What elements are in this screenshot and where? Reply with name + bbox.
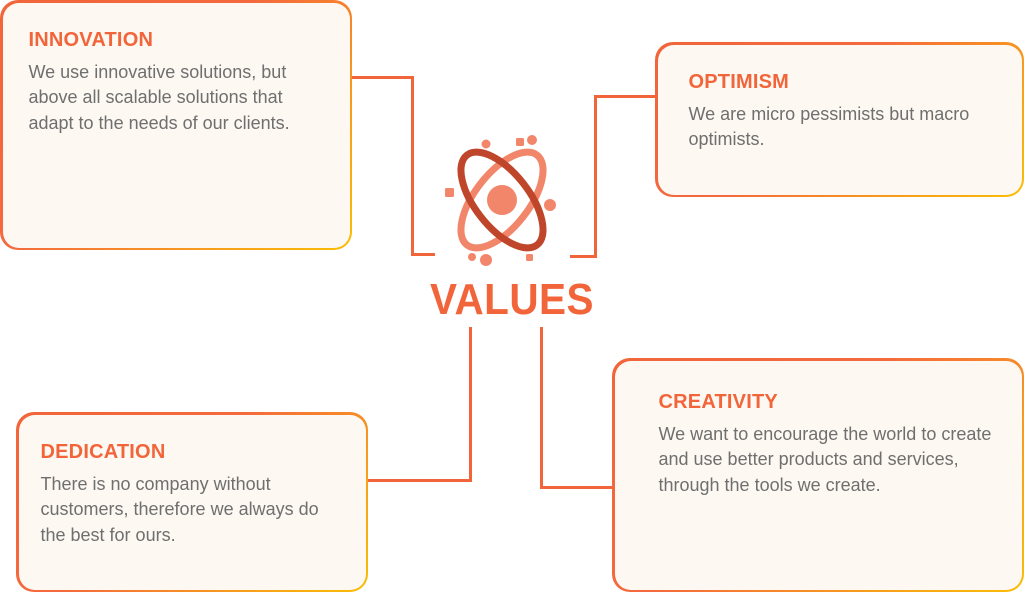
values-diagram: VALUES INNOVATION We use innovative solu… xyxy=(0,0,1024,592)
card-content: CREATIVITY We want to encourage the worl… xyxy=(615,361,1022,590)
connector-optimism-horizontal xyxy=(594,95,657,98)
connector-innovation-vertical xyxy=(411,76,414,256)
connector-optimism-stub xyxy=(570,255,597,258)
connector-innovation-horizontal xyxy=(352,76,414,79)
card-content: INNOVATION We use innovative solutions, … xyxy=(3,3,350,248)
page-title: VALUES xyxy=(41,278,983,322)
card-title-innovation: INNOVATION xyxy=(29,29,324,51)
value-card-innovation[interactable]: INNOVATION We use innovative solutions, … xyxy=(0,0,352,250)
card-content: OPTIMISM We are micro pessimists but mac… xyxy=(658,45,1022,195)
connector-creativity-vertical xyxy=(540,327,543,489)
connector-creativity-horizontal xyxy=(540,486,614,489)
card-body-innovation: We use innovative solutions, but above a… xyxy=(29,60,324,138)
value-card-creativity[interactable]: CREATIVITY We want to encourage the worl… xyxy=(612,358,1024,592)
card-body-dedication: There is no company without customers, t… xyxy=(41,472,340,550)
card-content: DEDICATION There is no company without c… xyxy=(19,415,366,590)
connector-dedication-horizontal xyxy=(368,479,472,482)
connector-optimism-vertical xyxy=(594,95,597,258)
card-body-creativity: We want to encourage the world to create… xyxy=(659,422,996,500)
connector-innovation-stub xyxy=(411,253,435,256)
card-title-optimism: OPTIMISM xyxy=(689,71,996,93)
value-card-dedication[interactable]: DEDICATION There is no company without c… xyxy=(16,412,368,592)
card-body-optimism: We are micro pessimists but macro optimi… xyxy=(689,102,996,154)
connector-dedication-vertical xyxy=(469,327,472,482)
card-title-creativity: CREATIVITY xyxy=(659,391,996,413)
value-card-optimism[interactable]: OPTIMISM We are micro pessimists but mac… xyxy=(655,42,1024,197)
card-title-dedication: DEDICATION xyxy=(41,441,340,463)
atom-icon xyxy=(440,126,564,274)
